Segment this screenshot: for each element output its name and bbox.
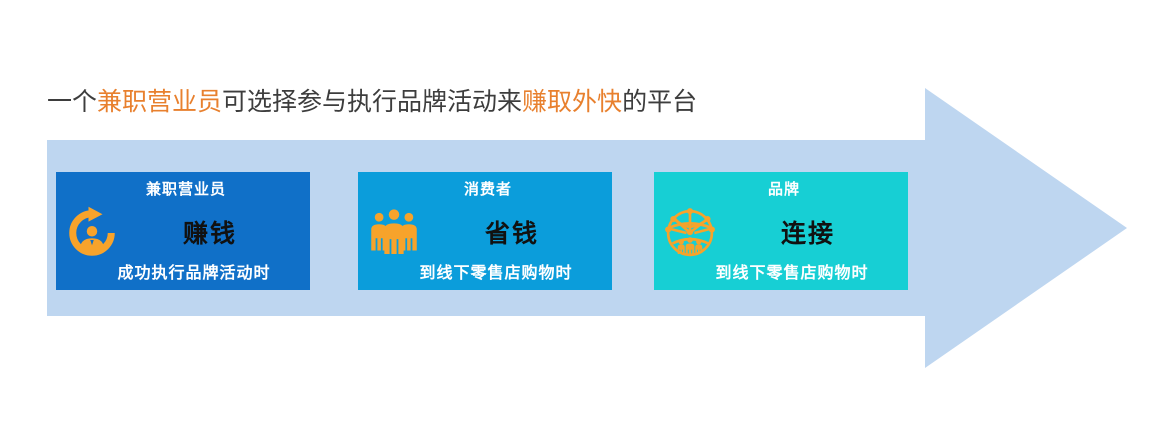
card-part-time-clerk[interactable]: 兼职营业员 赚钱 成功执行品牌活动时 bbox=[56, 172, 310, 290]
card-header-label: 消费者 bbox=[358, 178, 612, 199]
card-header-label: 品牌 bbox=[654, 178, 908, 199]
title-segment-3: 可选择参与执行品牌活动来 bbox=[222, 89, 522, 116]
globe-network-people-icon bbox=[662, 205, 718, 261]
card-consumer[interactable]: 消费者 省钱 到线下零售店购物时 bbox=[358, 172, 612, 290]
title-segment-1: 一个 bbox=[47, 89, 97, 116]
card-main-label: 连接 bbox=[714, 214, 902, 250]
page-title: 一个兼职营业员可选择参与执行品牌活动来赚取外快的平台 bbox=[47, 87, 697, 119]
card-brand[interactable]: 品牌 bbox=[654, 172, 908, 290]
card-main-label: 赚钱 bbox=[116, 214, 304, 250]
card-footer-label: 到线下零售店购物时 bbox=[654, 259, 900, 283]
person-growth-arrow-icon bbox=[64, 205, 120, 261]
card-main-label: 省钱 bbox=[418, 214, 606, 250]
people-group-icon bbox=[366, 205, 422, 261]
title-segment-4-accent: 赚取外快 bbox=[522, 89, 622, 116]
card-header-label: 兼职营业员 bbox=[56, 178, 310, 199]
title-segment-2-accent: 兼职营业员 bbox=[97, 89, 222, 116]
title-segment-5: 的平台 bbox=[622, 89, 697, 116]
slide-canvas: 一个兼职营业员可选择参与执行品牌活动来赚取外快的平台 兼职营业员 赚钱 成功执行… bbox=[0, 0, 1150, 430]
card-footer-label: 成功执行品牌活动时 bbox=[56, 259, 302, 283]
card-footer-label: 到线下零售店购物时 bbox=[358, 259, 604, 283]
